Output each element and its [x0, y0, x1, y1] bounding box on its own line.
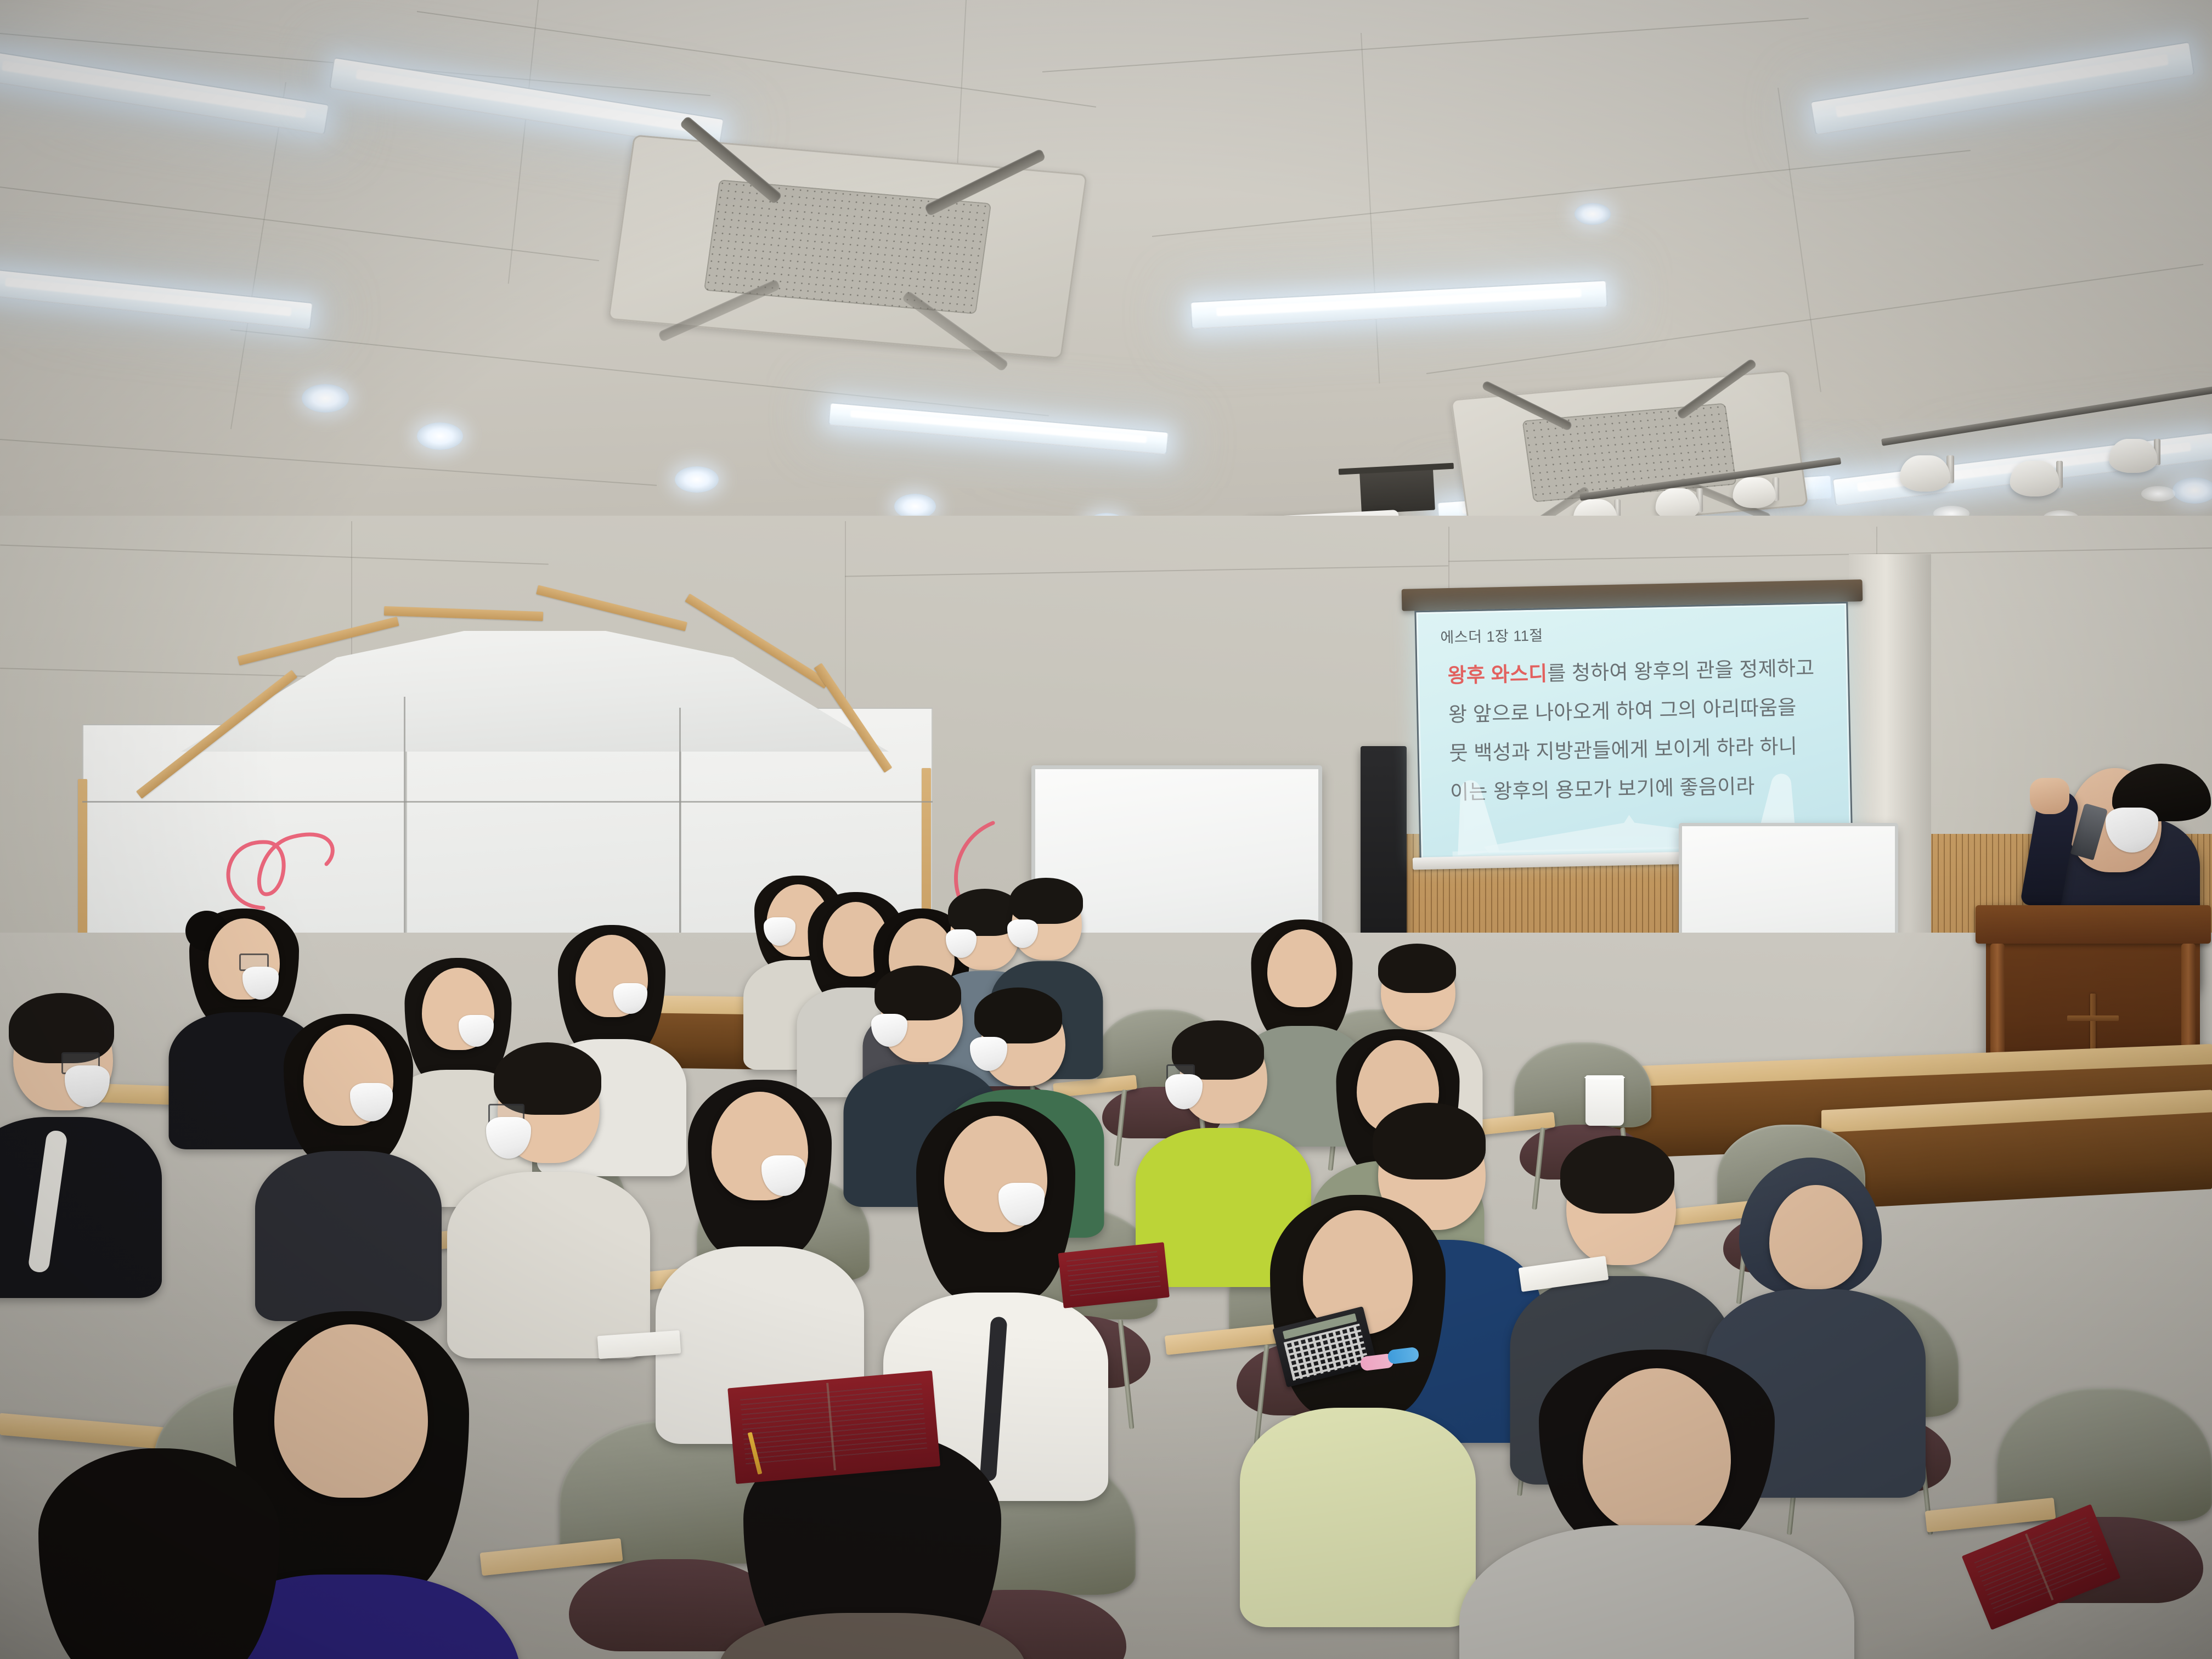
- open-book: [1062, 1246, 1165, 1303]
- slide-reference: 에스더 1장 11절: [1440, 623, 1543, 647]
- audience-member: [1163, 1020, 1284, 1229]
- track-spotlight: [2129, 439, 2186, 496]
- audience-member: [0, 993, 126, 1223]
- audience-member: [691, 1075, 828, 1328]
- open-bible: [732, 1374, 936, 1479]
- audience-member: [483, 1042, 614, 1284]
- lecture-hall-photo: 에스더 1장 11절 왕후 와스디를 청하여 왕후의 관을 정제하고 왕 앞으로…: [0, 0, 2212, 1659]
- audience-member: [192, 905, 296, 1092]
- audience-member: [285, 1009, 411, 1240]
- projection-screen: 에스더 1장 11절 왕후 와스디를 청하여 왕후의 관을 정제하고 왕 앞으로…: [1414, 602, 1853, 860]
- track-spotlight: [2030, 461, 2089, 520]
- downlight: [1575, 203, 1611, 225]
- speaker-fist: [2030, 778, 2069, 814]
- downlight: [417, 422, 463, 450]
- audience-member: [1531, 1350, 1783, 1659]
- air-conditioner-vent: [608, 134, 1087, 359]
- downlight: [302, 384, 349, 413]
- paper-cup: [1585, 1075, 1624, 1126]
- track-spotlight: [1920, 455, 1980, 516]
- audience-member: [49, 1448, 269, 1659]
- audience-member: [922, 1097, 1070, 1361]
- downlight: [675, 466, 719, 493]
